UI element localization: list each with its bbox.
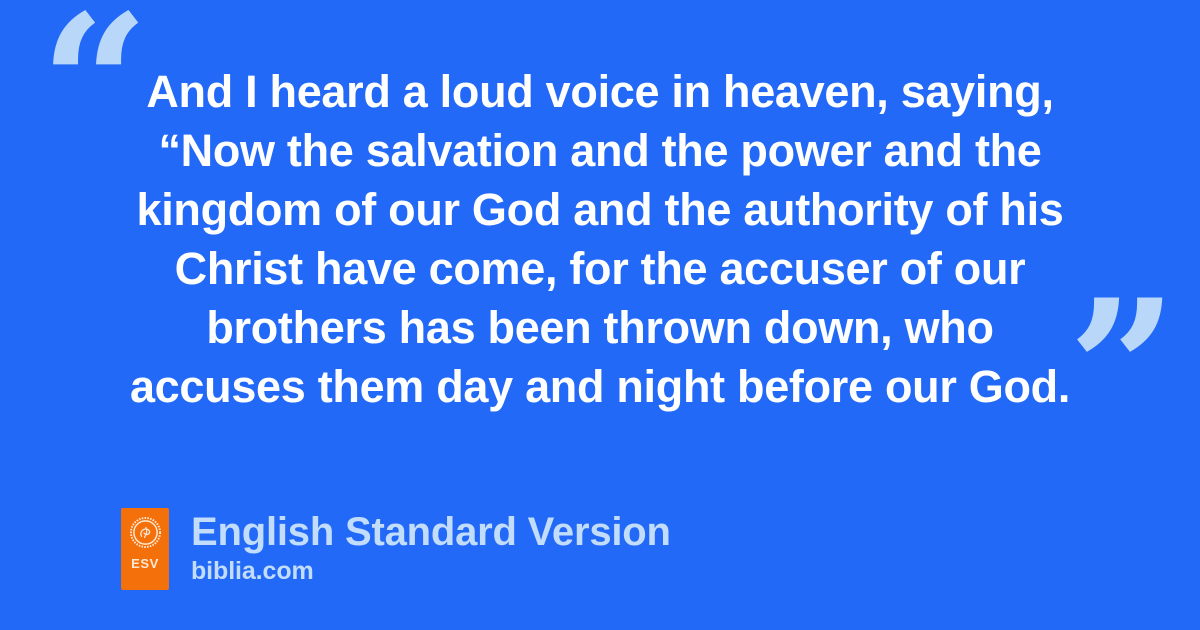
site-url-label[interactable]: biblia.com — [191, 557, 671, 585]
esv-logo-badge: ESV — [121, 508, 169, 590]
attribution-footer: ESV English Standard Version biblia.com — [121, 508, 671, 590]
esv-badge-label: ESV — [131, 557, 159, 570]
verse-text: And I heard a loud voice in heaven, sayi… — [64, 62, 1136, 416]
verse-block: And I heard a loud voice in heaven, sayi… — [0, 62, 1200, 416]
verse-image-card: “ And I heard a loud voice in heaven, sa… — [0, 0, 1200, 630]
attribution-text-group: English Standard Version biblia.com — [191, 508, 671, 585]
esv-seal-icon — [130, 517, 161, 548]
closing-quote-mark-icon: ” — [1068, 275, 1177, 465]
bible-version-name: English Standard Version — [191, 510, 671, 555]
